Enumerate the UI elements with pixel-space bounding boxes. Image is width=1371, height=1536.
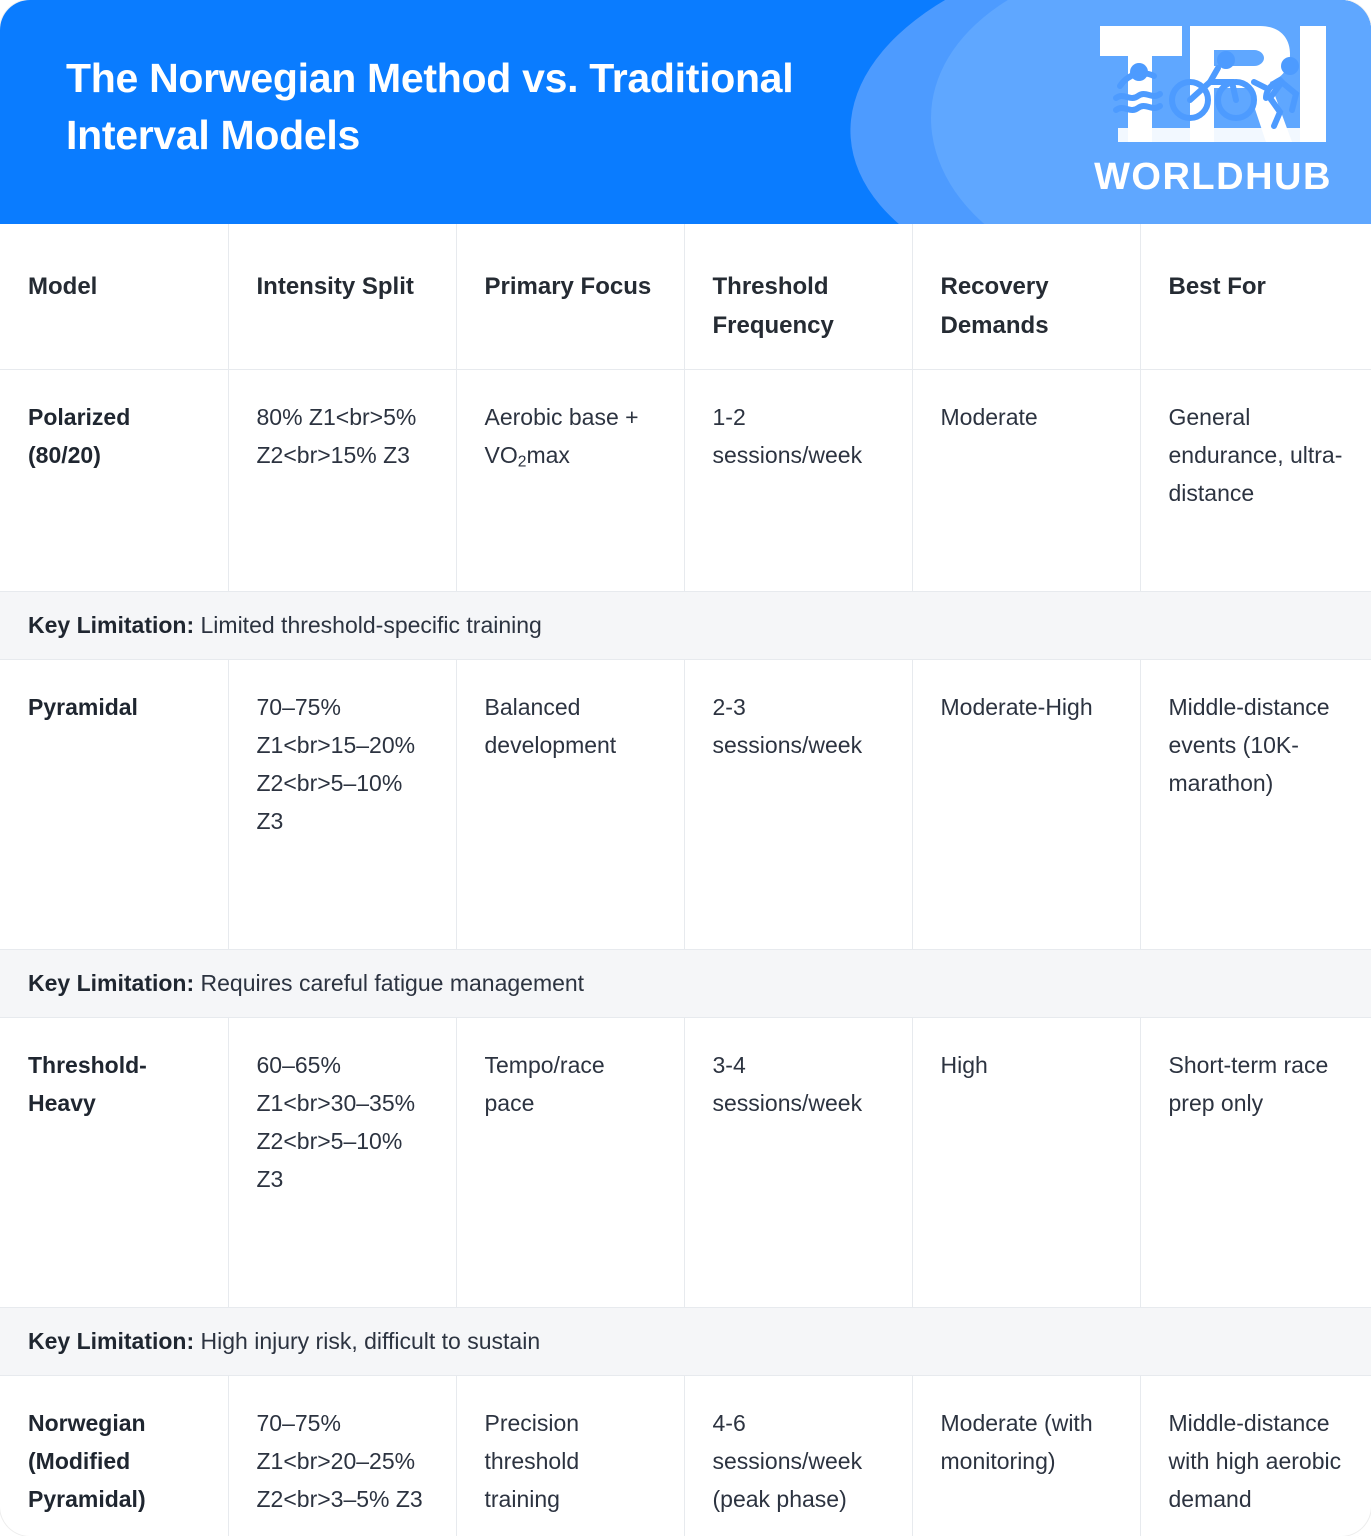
primary-focus-text: Tempo/race pace	[485, 1052, 605, 1116]
column-header-primary-focus: Primary Focus	[456, 224, 684, 369]
tri-logo-svg	[1094, 24, 1332, 150]
cell-recovery-demands: High	[912, 1017, 1140, 1307]
cell-intensity-split: 70–75% Z1<br>15–20% Z2<br>5–10% Z3	[228, 659, 456, 949]
key-limitation-row: Key Limitation: Requires careful fatigue…	[0, 949, 1371, 1017]
cell-model: Norwegian (Modified Pyramidal)	[0, 1375, 228, 1536]
card-header: The Norwegian Method vs. Traditional Int…	[0, 0, 1371, 224]
table-body: Polarized (80/20) 80% Z1<br>5% Z2<br>15%…	[0, 369, 1371, 1536]
cell-recovery-demands: Moderate (with monitoring)	[912, 1375, 1140, 1536]
cell-threshold-frequency: 4-6 sessions/week (peak phase)	[684, 1375, 912, 1536]
column-header-best-for: Best For	[1140, 224, 1371, 369]
cell-primary-focus: Balanced development	[456, 659, 684, 949]
column-header-recovery-demands: Recovery Demands	[912, 224, 1140, 369]
column-header-intensity-split: Intensity Split	[228, 224, 456, 369]
cell-primary-focus: Tempo/race pace	[456, 1017, 684, 1307]
brand-wordmark: WORLDHUB	[1089, 158, 1337, 196]
table-header: Model Intensity Split Primary Focus Thre…	[0, 224, 1371, 369]
table-row: Polarized (80/20) 80% Z1<br>5% Z2<br>15%…	[0, 369, 1371, 591]
key-limitation-label: Key Limitation:	[28, 612, 194, 638]
table-row: Pyramidal 70–75% Z1<br>15–20% Z2<br>5–10…	[0, 659, 1371, 949]
key-limitation-text: High injury risk, difficult to sustain	[201, 1328, 541, 1354]
cell-best-for: General endurance, ultra-distance	[1140, 369, 1371, 591]
tri-logo-mark	[1094, 24, 1332, 150]
key-limitation-row: Key Limitation: High injury risk, diffic…	[0, 1307, 1371, 1375]
cell-model: Threshold-Heavy	[0, 1017, 228, 1307]
key-limitation-text: Requires careful fatigue management	[201, 970, 585, 996]
table-row: Norwegian (Modified Pyramidal) 70–75% Z1…	[0, 1375, 1371, 1536]
page-title: The Norwegian Method vs. Traditional Int…	[66, 50, 846, 163]
cell-intensity-split: 70–75% Z1<br>20–25% Z2<br>3–5% Z3	[228, 1375, 456, 1536]
cell-threshold-frequency: 1-2 sessions/week	[684, 369, 912, 591]
key-limitation-label: Key Limitation:	[28, 970, 194, 996]
cell-primary-focus: Aerobic base + VO2max	[456, 369, 684, 591]
cell-recovery-demands: Moderate-High	[912, 659, 1140, 949]
column-header-model: Model	[0, 224, 228, 369]
primary-focus-suffix: max	[526, 442, 569, 468]
cell-best-for: Short-term race prep only	[1140, 1017, 1371, 1307]
comparison-table: Model Intensity Split Primary Focus Thre…	[0, 224, 1371, 1536]
cell-intensity-split: 80% Z1<br>5% Z2<br>15% Z3	[228, 369, 456, 591]
cell-recovery-demands: Moderate	[912, 369, 1140, 591]
primary-focus-text: Balanced development	[485, 694, 617, 758]
key-limitation-text: Limited threshold-specific training	[201, 612, 542, 638]
key-limitation-row: Key Limitation: Limited threshold-specif…	[0, 591, 1371, 659]
table-header-row: Model Intensity Split Primary Focus Thre…	[0, 224, 1371, 369]
cell-model: Pyramidal	[0, 659, 228, 949]
cell-best-for: Middle-distance events (10K-marathon)	[1140, 659, 1371, 949]
key-limitation-label: Key Limitation:	[28, 1328, 194, 1354]
cell-threshold-frequency: 2-3 sessions/week	[684, 659, 912, 949]
infographic-card: The Norwegian Method vs. Traditional Int…	[0, 0, 1371, 1536]
cell-threshold-frequency: 3-4 sessions/week	[684, 1017, 912, 1307]
cell-intensity-split: 60–65% Z1<br>30–35% Z2<br>5–10% Z3	[228, 1017, 456, 1307]
brand-logo: WORLDHUB	[1089, 24, 1337, 196]
table-row: Threshold-Heavy 60–65% Z1<br>30–35% Z2<b…	[0, 1017, 1371, 1307]
cell-best-for: Middle-distance with high aerobic demand	[1140, 1375, 1371, 1536]
cell-model: Polarized (80/20)	[0, 369, 228, 591]
cell-primary-focus: Precision threshold training	[456, 1375, 684, 1536]
primary-focus-text: Precision threshold training	[485, 1410, 580, 1512]
column-header-threshold-frequency: Threshold Frequency	[684, 224, 912, 369]
